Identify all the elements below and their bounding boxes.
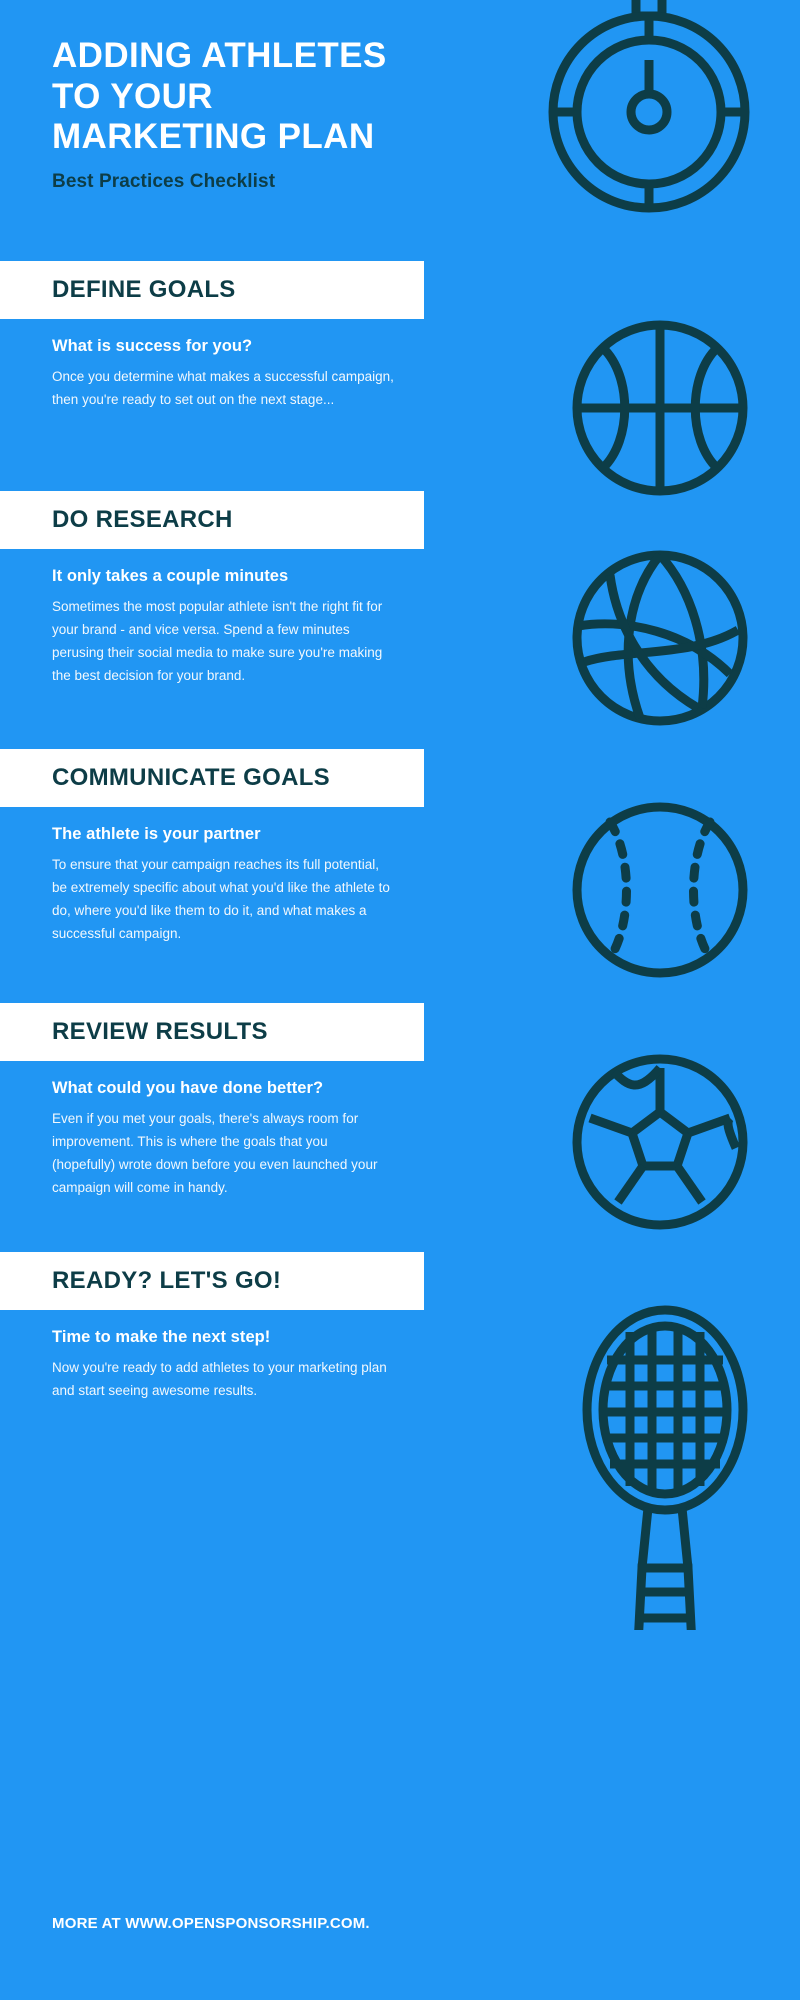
section-subheading: Time to make the next step! <box>52 1328 394 1347</box>
section-heading: DO RESEARCH <box>52 506 233 534</box>
footer-url-text[interactable]: MORE AT WWW.OPENSPONSORSHIP.COM. <box>52 1915 370 1932</box>
section-paragraph: Sometimes the most popular athlete isn't… <box>52 596 394 688</box>
page-title-line-2: TO YOUR <box>52 77 213 116</box>
section-heading-bar: DEFINE GOALS <box>0 261 424 319</box>
section-body: It only takes a couple minutes Sometimes… <box>0 549 424 688</box>
section-heading: DEFINE GOALS <box>52 276 236 304</box>
page-title-line-1: ADDING ATHLETES <box>52 36 387 75</box>
stopwatch-icon <box>540 0 760 232</box>
section-review-results: REVIEW RESULTS What could you have done … <box>0 1003 424 1200</box>
section-heading-bar: REVIEW RESULTS <box>0 1003 424 1061</box>
baseball-icon <box>570 800 750 980</box>
decorative-icon-column <box>530 0 800 2000</box>
page-subtitle: Best Practices Checklist <box>52 171 440 193</box>
page-title-line-3: MARKETING PLAN <box>52 117 375 156</box>
section-heading-bar: COMMUNICATE GOALS <box>0 749 424 807</box>
section-body: What could you have done better? Even if… <box>0 1061 424 1200</box>
infographic-page: ADDING ATHLETES TO YOUR MARKETING PLAN B… <box>0 0 800 2000</box>
footer: MORE AT WWW.OPENSPONSORSHIP.COM. <box>52 1915 370 1932</box>
page-title: ADDING ATHLETES TO YOUR MARKETING PLAN <box>52 36 440 158</box>
section-paragraph: Once you determine what makes a successf… <box>52 366 394 412</box>
section-heading-bar: READY? LET'S GO! <box>0 1252 424 1310</box>
section-ready-lets-go: READY? LET'S GO! Time to make the next s… <box>0 1252 424 1403</box>
section-subheading: It only takes a couple minutes <box>52 567 394 586</box>
basketball-icon <box>570 318 750 498</box>
section-do-research: DO RESEARCH It only takes a couple minut… <box>0 491 424 688</box>
section-subheading: What could you have done better? <box>52 1079 394 1098</box>
soccer-ball-icon <box>570 1052 750 1232</box>
section-heading: COMMUNICATE GOALS <box>52 764 330 792</box>
section-paragraph: Now you're ready to add athletes to your… <box>52 1357 394 1403</box>
tennis-racket-icon <box>560 1300 770 1630</box>
volleyball-icon <box>570 548 750 728</box>
section-body: The athlete is your partner To ensure th… <box>0 807 424 946</box>
section-paragraph: To ensure that your campaign reaches its… <box>52 854 394 946</box>
section-subheading: What is success for you? <box>52 337 394 356</box>
page-header: ADDING ATHLETES TO YOUR MARKETING PLAN B… <box>0 0 470 193</box>
section-subheading: The athlete is your partner <box>52 825 394 844</box>
section-communicate-goals: COMMUNICATE GOALS The athlete is your pa… <box>0 749 424 946</box>
section-heading-bar: DO RESEARCH <box>0 491 424 549</box>
section-body: Time to make the next step! Now you're r… <box>0 1310 424 1403</box>
section-heading: READY? LET'S GO! <box>52 1267 281 1295</box>
section-heading: REVIEW RESULTS <box>52 1018 268 1046</box>
section-body: What is success for you? Once you determ… <box>0 319 424 412</box>
section-define-goals: DEFINE GOALS What is success for you? On… <box>0 261 424 412</box>
section-paragraph: Even if you met your goals, there's alwa… <box>52 1108 394 1200</box>
